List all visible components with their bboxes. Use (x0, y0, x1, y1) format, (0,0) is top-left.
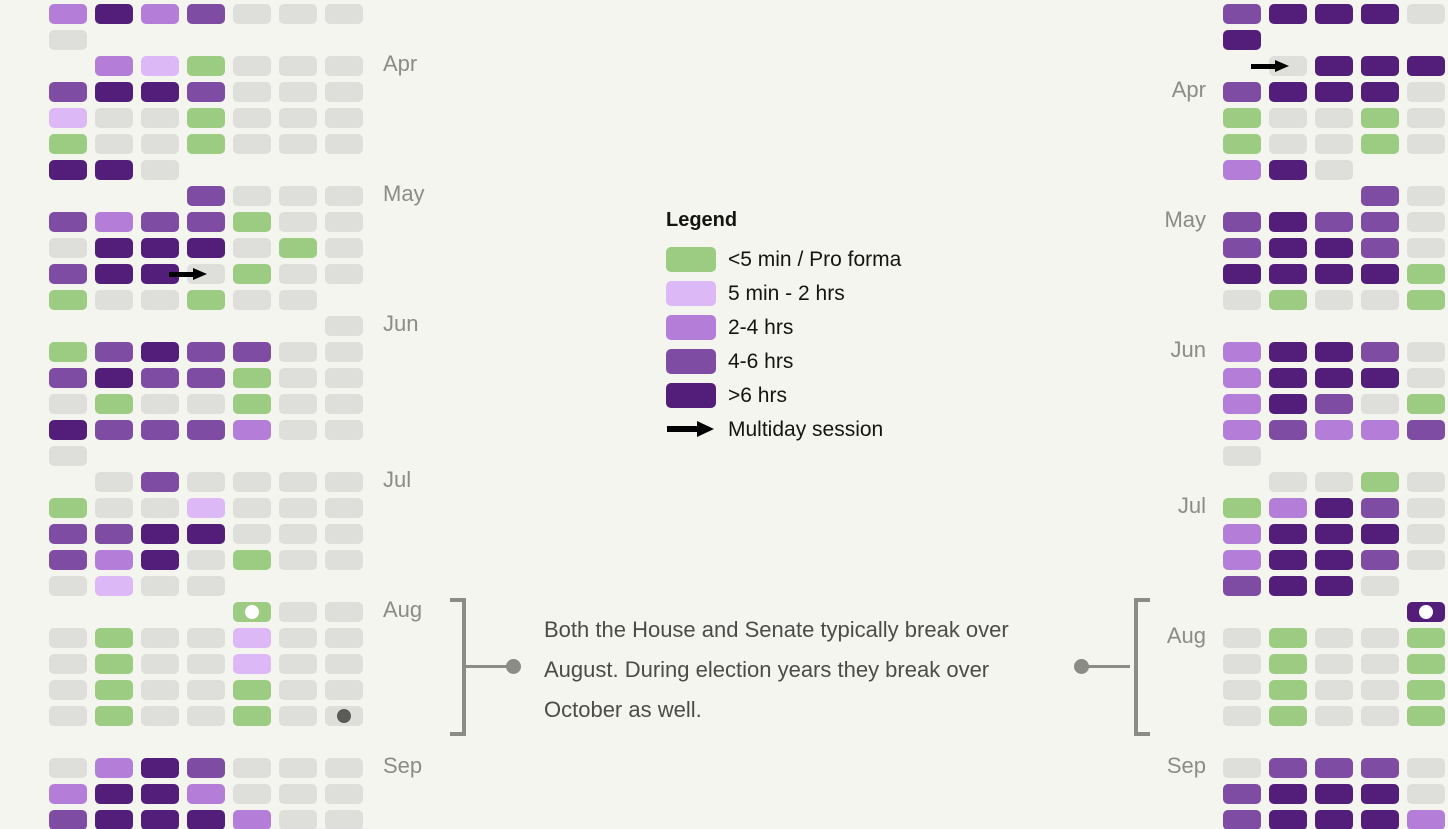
calendar-day-cell[interactable] (1361, 134, 1399, 154)
calendar-day-cell[interactable] (49, 420, 87, 440)
calendar-day-cell[interactable] (1223, 706, 1261, 726)
calendar-day-cell[interactable] (1269, 784, 1307, 804)
calendar-day-cell[interactable] (1315, 550, 1353, 570)
calendar-day-cell[interactable] (141, 784, 179, 804)
calendar-day-cell[interactable] (141, 212, 179, 232)
calendar-day-cell[interactable] (233, 602, 271, 622)
calendar-day-cell[interactable] (1223, 784, 1261, 804)
calendar-day-cell[interactable] (325, 472, 363, 492)
calendar-day-cell[interactable] (141, 498, 179, 518)
calendar-day-cell[interactable] (1407, 186, 1445, 206)
calendar-day-cell[interactable] (95, 238, 133, 258)
calendar-day-cell[interactable] (233, 134, 271, 154)
calendar-day-cell[interactable] (187, 810, 225, 829)
calendar-day-cell[interactable] (279, 56, 317, 76)
calendar-day-cell[interactable] (141, 654, 179, 674)
calendar-day-cell[interactable] (95, 758, 133, 778)
calendar-day-cell[interactable] (233, 498, 271, 518)
calendar-day-cell[interactable] (279, 82, 317, 102)
calendar-day-cell[interactable] (95, 160, 133, 180)
calendar-day-cell[interactable] (141, 82, 179, 102)
calendar-day-cell[interactable] (187, 264, 225, 284)
calendar-day-cell[interactable] (1315, 160, 1353, 180)
calendar-day-cell[interactable] (233, 654, 271, 674)
calendar-day-cell[interactable] (325, 368, 363, 388)
calendar-day-cell[interactable] (1223, 758, 1261, 778)
calendar-day-cell[interactable] (1407, 628, 1445, 648)
calendar-day-cell[interactable] (49, 654, 87, 674)
calendar-day-cell[interactable] (141, 680, 179, 700)
calendar-day-cell[interactable] (1361, 4, 1399, 24)
calendar-day-cell[interactable] (1315, 290, 1353, 310)
calendar-day-cell[interactable] (1407, 524, 1445, 544)
calendar-day-cell[interactable] (1315, 576, 1353, 596)
calendar-day-cell[interactable] (279, 134, 317, 154)
calendar-day-cell[interactable] (1269, 498, 1307, 518)
calendar-day-cell[interactable] (1315, 680, 1353, 700)
calendar-day-cell[interactable] (233, 628, 271, 648)
calendar-day-cell[interactable] (49, 238, 87, 258)
calendar-day-cell[interactable] (1407, 784, 1445, 804)
calendar-day-cell[interactable] (1361, 680, 1399, 700)
calendar-day-cell[interactable] (325, 680, 363, 700)
calendar-day-cell[interactable] (49, 758, 87, 778)
calendar-day-cell[interactable] (1361, 524, 1399, 544)
calendar-day-cell[interactable] (49, 212, 87, 232)
calendar-day-cell[interactable] (1361, 576, 1399, 596)
calendar-day-cell[interactable] (49, 680, 87, 700)
calendar-day-cell[interactable] (1361, 82, 1399, 102)
calendar-day-cell[interactable] (95, 680, 133, 700)
calendar-day-cell[interactable] (279, 524, 317, 544)
calendar-day-cell[interactable] (1361, 212, 1399, 232)
calendar-day-cell[interactable] (1223, 576, 1261, 596)
calendar-day-cell[interactable] (325, 654, 363, 674)
calendar-day-cell[interactable] (1407, 4, 1445, 24)
calendar-day-cell[interactable] (1407, 394, 1445, 414)
calendar-day-cell[interactable] (1407, 550, 1445, 570)
calendar-day-cell[interactable] (233, 264, 271, 284)
calendar-day-cell[interactable] (1361, 420, 1399, 440)
calendar-day-cell[interactable] (1269, 758, 1307, 778)
calendar-day-cell[interactable] (1315, 238, 1353, 258)
calendar-day-cell[interactable] (95, 290, 133, 310)
calendar-day-cell[interactable] (1407, 212, 1445, 232)
calendar-day-cell[interactable] (279, 212, 317, 232)
calendar-day-cell[interactable] (1223, 212, 1261, 232)
calendar-day-cell[interactable] (233, 108, 271, 128)
calendar-day-cell[interactable] (1223, 498, 1261, 518)
calendar-day-cell[interactable] (95, 498, 133, 518)
calendar-day-cell[interactable] (95, 524, 133, 544)
calendar-day-cell[interactable] (141, 420, 179, 440)
calendar-day-cell[interactable] (49, 706, 87, 726)
calendar-day-cell[interactable] (187, 56, 225, 76)
calendar-day-cell[interactable] (141, 4, 179, 24)
calendar-day-cell[interactable] (1269, 108, 1307, 128)
calendar-day-cell[interactable] (49, 810, 87, 829)
calendar-day-cell[interactable] (141, 264, 179, 284)
calendar-day-cell[interactable] (95, 56, 133, 76)
calendar-day-cell[interactable] (1269, 394, 1307, 414)
calendar-day-cell[interactable] (1407, 238, 1445, 258)
calendar-day-cell[interactable] (325, 524, 363, 544)
calendar-day-cell[interactable] (95, 628, 133, 648)
calendar-day-cell[interactable] (1223, 30, 1261, 50)
calendar-day-cell[interactable] (325, 212, 363, 232)
calendar-day-cell[interactable] (1361, 810, 1399, 829)
calendar-day-cell[interactable] (279, 706, 317, 726)
calendar-day-cell[interactable] (141, 56, 179, 76)
calendar-day-cell[interactable] (1361, 758, 1399, 778)
calendar-day-cell[interactable] (1223, 420, 1261, 440)
calendar-day-cell[interactable] (325, 810, 363, 829)
calendar-day-cell[interactable] (141, 472, 179, 492)
calendar-day-cell[interactable] (325, 628, 363, 648)
calendar-day-cell[interactable] (141, 550, 179, 570)
calendar-day-cell[interactable] (1315, 212, 1353, 232)
calendar-day-cell[interactable] (279, 420, 317, 440)
calendar-day-cell[interactable] (1269, 680, 1307, 700)
calendar-day-cell[interactable] (141, 238, 179, 258)
calendar-day-cell[interactable] (49, 134, 87, 154)
calendar-day-cell[interactable] (141, 758, 179, 778)
calendar-day-cell[interactable] (95, 134, 133, 154)
calendar-day-cell[interactable] (1269, 472, 1307, 492)
calendar-day-cell[interactable] (1315, 4, 1353, 24)
calendar-day-cell[interactable] (49, 394, 87, 414)
calendar-day-cell[interactable] (279, 810, 317, 829)
calendar-day-cell[interactable] (1269, 628, 1307, 648)
calendar-day-cell[interactable] (325, 784, 363, 804)
calendar-day-cell[interactable] (49, 82, 87, 102)
calendar-day-cell[interactable] (187, 524, 225, 544)
calendar-day-cell[interactable] (1269, 4, 1307, 24)
calendar-day-cell[interactable] (1315, 524, 1353, 544)
calendar-day-cell[interactable] (1407, 602, 1445, 622)
calendar-day-cell[interactable] (1223, 680, 1261, 700)
calendar-day-cell[interactable] (141, 368, 179, 388)
calendar-day-cell[interactable] (1361, 498, 1399, 518)
calendar-day-cell[interactable] (95, 784, 133, 804)
calendar-day-cell[interactable] (325, 108, 363, 128)
calendar-day-cell[interactable] (187, 4, 225, 24)
calendar-day-cell[interactable] (1361, 628, 1399, 648)
calendar-day-cell[interactable] (1407, 758, 1445, 778)
calendar-day-cell[interactable] (233, 290, 271, 310)
calendar-day-cell[interactable] (1407, 342, 1445, 362)
calendar-day-cell[interactable] (1269, 550, 1307, 570)
calendar-day-cell[interactable] (141, 342, 179, 362)
calendar-day-cell[interactable] (1223, 654, 1261, 674)
calendar-day-cell[interactable] (187, 342, 225, 362)
calendar-day-cell[interactable] (49, 290, 87, 310)
calendar-day-cell[interactable] (1269, 368, 1307, 388)
calendar-day-cell[interactable] (187, 290, 225, 310)
calendar-day-cell[interactable] (1223, 368, 1261, 388)
legend-row[interactable]: 2-4 hrs (666, 310, 996, 344)
calendar-day-cell[interactable] (279, 472, 317, 492)
calendar-day-cell[interactable] (1269, 342, 1307, 362)
calendar-day-cell[interactable] (1407, 134, 1445, 154)
calendar-day-cell[interactable] (1315, 472, 1353, 492)
calendar-day-cell[interactable] (325, 706, 363, 726)
calendar-day-cell[interactable] (1223, 160, 1261, 180)
calendar-day-cell[interactable] (1407, 108, 1445, 128)
calendar-day-cell[interactable] (1223, 628, 1261, 648)
calendar-day-cell[interactable] (1315, 264, 1353, 284)
calendar-day-cell[interactable] (1315, 706, 1353, 726)
calendar-day-cell[interactable] (1407, 472, 1445, 492)
calendar-day-cell[interactable] (1223, 238, 1261, 258)
calendar-day-cell[interactable] (95, 212, 133, 232)
calendar-day-cell[interactable] (1315, 810, 1353, 829)
calendar-day-cell[interactable] (1315, 758, 1353, 778)
calendar-day-cell[interactable] (187, 628, 225, 648)
calendar-day-cell[interactable] (49, 30, 87, 50)
calendar-day-cell[interactable] (1361, 238, 1399, 258)
calendar-day-cell[interactable] (1269, 290, 1307, 310)
calendar-day-cell[interactable] (1361, 472, 1399, 492)
calendar-day-cell[interactable] (325, 186, 363, 206)
calendar-day-cell[interactable] (187, 498, 225, 518)
calendar-day-cell[interactable] (95, 82, 133, 102)
calendar-day-cell[interactable] (1223, 446, 1261, 466)
calendar-day-cell[interactable] (325, 342, 363, 362)
calendar-day-cell[interactable] (141, 134, 179, 154)
calendar-day-cell[interactable] (233, 810, 271, 829)
calendar-day-cell[interactable] (279, 368, 317, 388)
calendar-day-cell[interactable] (187, 550, 225, 570)
calendar-day-cell[interactable] (141, 160, 179, 180)
calendar-day-cell[interactable] (95, 550, 133, 570)
calendar-day-cell[interactable] (1269, 212, 1307, 232)
calendar-day-cell[interactable] (49, 784, 87, 804)
calendar-day-cell[interactable] (95, 108, 133, 128)
calendar-day-cell[interactable] (49, 524, 87, 544)
calendar-day-cell[interactable] (279, 758, 317, 778)
calendar-day-cell[interactable] (1361, 706, 1399, 726)
calendar-day-cell[interactable] (325, 4, 363, 24)
calendar-day-cell[interactable] (1315, 654, 1353, 674)
calendar-day-cell[interactable] (49, 368, 87, 388)
calendar-day-cell[interactable] (1269, 160, 1307, 180)
calendar-day-cell[interactable] (1361, 290, 1399, 310)
calendar-day-cell[interactable] (187, 758, 225, 778)
calendar-day-cell[interactable] (233, 56, 271, 76)
calendar-day-cell[interactable] (325, 82, 363, 102)
calendar-day-cell[interactable] (279, 264, 317, 284)
calendar-day-cell[interactable] (1361, 550, 1399, 570)
calendar-day-cell[interactable] (233, 394, 271, 414)
calendar-day-cell[interactable] (325, 316, 363, 336)
calendar-day-cell[interactable] (95, 264, 133, 284)
calendar-day-cell[interactable] (95, 706, 133, 726)
calendar-day-cell[interactable] (187, 368, 225, 388)
calendar-day-cell[interactable] (325, 394, 363, 414)
calendar-day-cell[interactable] (325, 602, 363, 622)
calendar-day-cell[interactable] (1361, 368, 1399, 388)
calendar-day-cell[interactable] (1315, 134, 1353, 154)
calendar-day-cell[interactable] (233, 420, 271, 440)
calendar-day-cell[interactable] (1361, 784, 1399, 804)
calendar-day-cell[interactable] (1361, 264, 1399, 284)
calendar-day-cell[interactable] (1361, 394, 1399, 414)
calendar-day-cell[interactable] (233, 82, 271, 102)
calendar-day-cell[interactable] (1315, 82, 1353, 102)
calendar-day-cell[interactable] (1407, 368, 1445, 388)
calendar-day-cell[interactable] (1315, 108, 1353, 128)
calendar-day-cell[interactable] (187, 706, 225, 726)
calendar-day-cell[interactable] (1223, 134, 1261, 154)
calendar-day-cell[interactable] (141, 576, 179, 596)
calendar-day-cell[interactable] (187, 472, 225, 492)
calendar-day-cell[interactable] (141, 290, 179, 310)
calendar-day-cell[interactable] (233, 368, 271, 388)
calendar-day-cell[interactable] (95, 4, 133, 24)
calendar-day-cell[interactable] (233, 212, 271, 232)
calendar-day-cell[interactable] (1315, 784, 1353, 804)
calendar-day-cell[interactable] (187, 784, 225, 804)
calendar-day-cell[interactable] (1407, 706, 1445, 726)
calendar-day-cell[interactable] (1315, 394, 1353, 414)
calendar-day-cell[interactable] (49, 4, 87, 24)
calendar-day-cell[interactable] (1361, 186, 1399, 206)
calendar-day-cell[interactable] (187, 186, 225, 206)
calendar-day-cell[interactable] (325, 758, 363, 778)
calendar-day-cell[interactable] (187, 212, 225, 232)
calendar-day-cell[interactable] (49, 628, 87, 648)
calendar-day-cell[interactable] (1223, 394, 1261, 414)
calendar-day-cell[interactable] (1269, 82, 1307, 102)
calendar-day-cell[interactable] (49, 550, 87, 570)
calendar-day-cell[interactable] (1407, 290, 1445, 310)
calendar-day-cell[interactable] (233, 706, 271, 726)
calendar-day-cell[interactable] (49, 342, 87, 362)
calendar-day-cell[interactable] (187, 108, 225, 128)
calendar-day-cell[interactable] (1315, 420, 1353, 440)
calendar-day-cell[interactable] (279, 4, 317, 24)
calendar-day-cell[interactable] (279, 394, 317, 414)
calendar-day-cell[interactable] (1223, 550, 1261, 570)
calendar-day-cell[interactable] (95, 810, 133, 829)
calendar-day-cell[interactable] (279, 784, 317, 804)
calendar-day-cell[interactable] (279, 628, 317, 648)
legend-row[interactable]: 5 min - 2 hrs (666, 276, 996, 310)
calendar-day-cell[interactable] (279, 680, 317, 700)
calendar-day-cell[interactable] (279, 602, 317, 622)
calendar-day-cell[interactable] (49, 576, 87, 596)
calendar-day-cell[interactable] (1223, 108, 1261, 128)
calendar-day-cell[interactable] (1407, 680, 1445, 700)
calendar-day-cell[interactable] (49, 498, 87, 518)
calendar-day-cell[interactable] (95, 420, 133, 440)
calendar-day-cell[interactable] (279, 342, 317, 362)
calendar-day-cell[interactable] (233, 4, 271, 24)
calendar-day-cell[interactable] (233, 784, 271, 804)
calendar-day-cell[interactable] (233, 524, 271, 544)
calendar-day-cell[interactable] (233, 758, 271, 778)
calendar-day-cell[interactable] (1361, 342, 1399, 362)
calendar-day-cell[interactable] (1361, 108, 1399, 128)
legend-row[interactable]: <5 min / Pro forma (666, 242, 996, 276)
calendar-day-cell[interactable] (1407, 82, 1445, 102)
calendar-day-cell[interactable] (1361, 654, 1399, 674)
calendar-day-cell[interactable] (1407, 264, 1445, 284)
calendar-day-cell[interactable] (187, 654, 225, 674)
calendar-day-cell[interactable] (1407, 654, 1445, 674)
calendar-day-cell[interactable] (1269, 576, 1307, 596)
calendar-day-cell[interactable] (325, 550, 363, 570)
calendar-day-cell[interactable] (1223, 82, 1261, 102)
calendar-day-cell[interactable] (187, 420, 225, 440)
calendar-day-cell[interactable] (187, 238, 225, 258)
calendar-day-cell[interactable] (49, 108, 87, 128)
calendar-day-cell[interactable] (1269, 524, 1307, 544)
calendar-day-cell[interactable] (1407, 810, 1445, 829)
calendar-day-cell[interactable] (95, 394, 133, 414)
calendar-day-cell[interactable] (1269, 238, 1307, 258)
calendar-day-cell[interactable] (279, 108, 317, 128)
calendar-day-cell[interactable] (233, 186, 271, 206)
calendar-day-cell[interactable] (1315, 56, 1353, 76)
calendar-day-cell[interactable] (95, 472, 133, 492)
calendar-day-cell[interactable] (233, 680, 271, 700)
calendar-day-cell[interactable] (325, 420, 363, 440)
calendar-day-cell[interactable] (1269, 134, 1307, 154)
calendar-day-cell[interactable] (1315, 628, 1353, 648)
calendar-day-cell[interactable] (95, 654, 133, 674)
calendar-day-cell[interactable] (325, 134, 363, 154)
calendar-day-cell[interactable] (233, 550, 271, 570)
calendar-day-cell[interactable] (279, 654, 317, 674)
calendar-day-cell[interactable] (1223, 4, 1261, 24)
calendar-day-cell[interactable] (187, 82, 225, 102)
legend-row[interactable]: 4-6 hrs (666, 344, 996, 378)
calendar-day-cell[interactable] (325, 238, 363, 258)
calendar-day-cell[interactable] (95, 368, 133, 388)
calendar-day-cell[interactable] (141, 108, 179, 128)
calendar-day-cell[interactable] (141, 394, 179, 414)
calendar-day-cell[interactable] (49, 264, 87, 284)
calendar-day-cell[interactable] (1269, 56, 1307, 76)
calendar-day-cell[interactable] (1315, 342, 1353, 362)
calendar-day-cell[interactable] (325, 264, 363, 284)
calendar-day-cell[interactable] (233, 238, 271, 258)
calendar-day-cell[interactable] (1315, 368, 1353, 388)
calendar-day-cell[interactable] (95, 576, 133, 596)
calendar-day-cell[interactable] (95, 342, 133, 362)
calendar-day-cell[interactable] (187, 680, 225, 700)
calendar-day-cell[interactable] (141, 810, 179, 829)
legend-row[interactable]: >6 hrs (666, 378, 996, 412)
calendar-day-cell[interactable] (1407, 498, 1445, 518)
calendar-day-cell[interactable] (1223, 342, 1261, 362)
calendar-day-cell[interactable] (141, 628, 179, 648)
calendar-day-cell[interactable] (1269, 706, 1307, 726)
calendar-day-cell[interactable] (187, 576, 225, 596)
calendar-day-cell[interactable] (279, 550, 317, 570)
calendar-day-cell[interactable] (233, 342, 271, 362)
calendar-day-cell[interactable] (1223, 290, 1261, 310)
legend-row-multiday[interactable]: Multiday session (666, 412, 996, 446)
calendar-day-cell[interactable] (1223, 524, 1261, 544)
calendar-day-cell[interactable] (1315, 498, 1353, 518)
calendar-day-cell[interactable] (1407, 420, 1445, 440)
calendar-day-cell[interactable] (279, 238, 317, 258)
calendar-day-cell[interactable] (187, 134, 225, 154)
calendar-day-cell[interactable] (325, 56, 363, 76)
